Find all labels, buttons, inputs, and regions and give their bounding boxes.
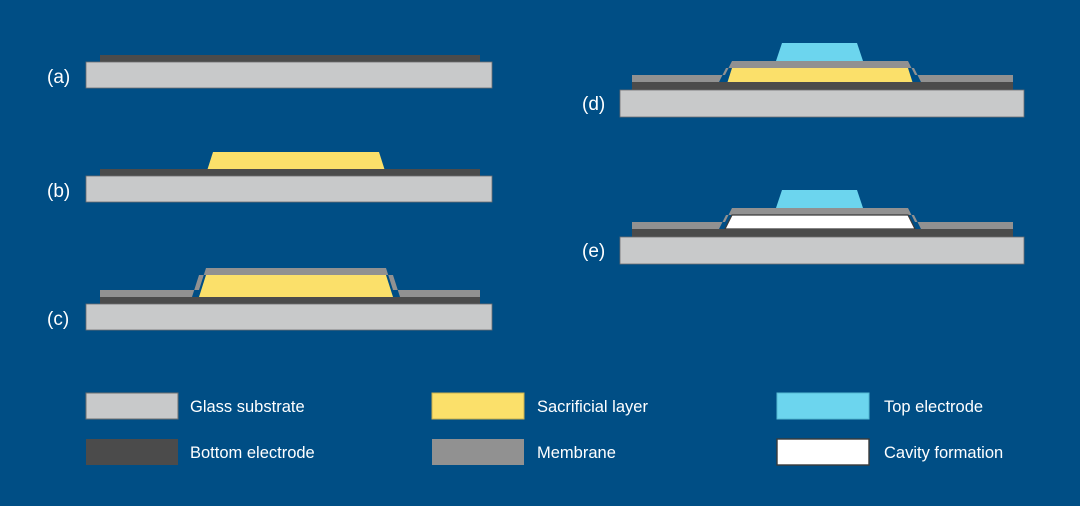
- legend-label-top-electrode: Top electrode: [884, 398, 983, 416]
- legend-label-bottom-electrode: Bottom electrode: [190, 444, 315, 462]
- legend-label-sacrificial-layer: Sacrificial layer: [537, 398, 648, 416]
- legend-swatch-cavity-formation: [777, 439, 869, 465]
- glass-substrate-layer: [86, 176, 492, 202]
- glass-substrate-layer: [620, 90, 1024, 117]
- step-label-c: (c): [47, 309, 69, 330]
- process-flow-figure: (a) (b) (c) (d) (e): [0, 0, 1080, 506]
- legend-swatch-glass-substrate: [86, 393, 178, 419]
- legend-swatch-top-electrode: [777, 393, 869, 419]
- sacrificial-layer-layer: [199, 275, 393, 297]
- glass-substrate-layer: [86, 304, 492, 330]
- legend-label-cavity-formation: Cavity formation: [884, 444, 1003, 462]
- legend-label-membrane: Membrane: [537, 444, 616, 462]
- glass-substrate-layer: [86, 62, 492, 88]
- step-label-d: (d): [582, 94, 605, 115]
- legend-swatch-membrane: [432, 439, 524, 465]
- glass-substrate-layer: [620, 237, 1024, 264]
- step-label-e: (e): [582, 241, 605, 262]
- top-electrode-layer: [776, 190, 863, 208]
- legend-swatch-sacrificial-layer: [432, 393, 524, 419]
- top-electrode-layer: [776, 43, 863, 61]
- process-step-a: (a): [47, 55, 492, 88]
- cavity-formation-layer: [725, 215, 915, 229]
- legend-label-glass-substrate: Glass substrate: [190, 398, 305, 416]
- step-label-a: (a): [47, 67, 70, 88]
- legend-swatch-bottom-electrode: [86, 439, 178, 465]
- step-label-b: (b): [47, 181, 70, 202]
